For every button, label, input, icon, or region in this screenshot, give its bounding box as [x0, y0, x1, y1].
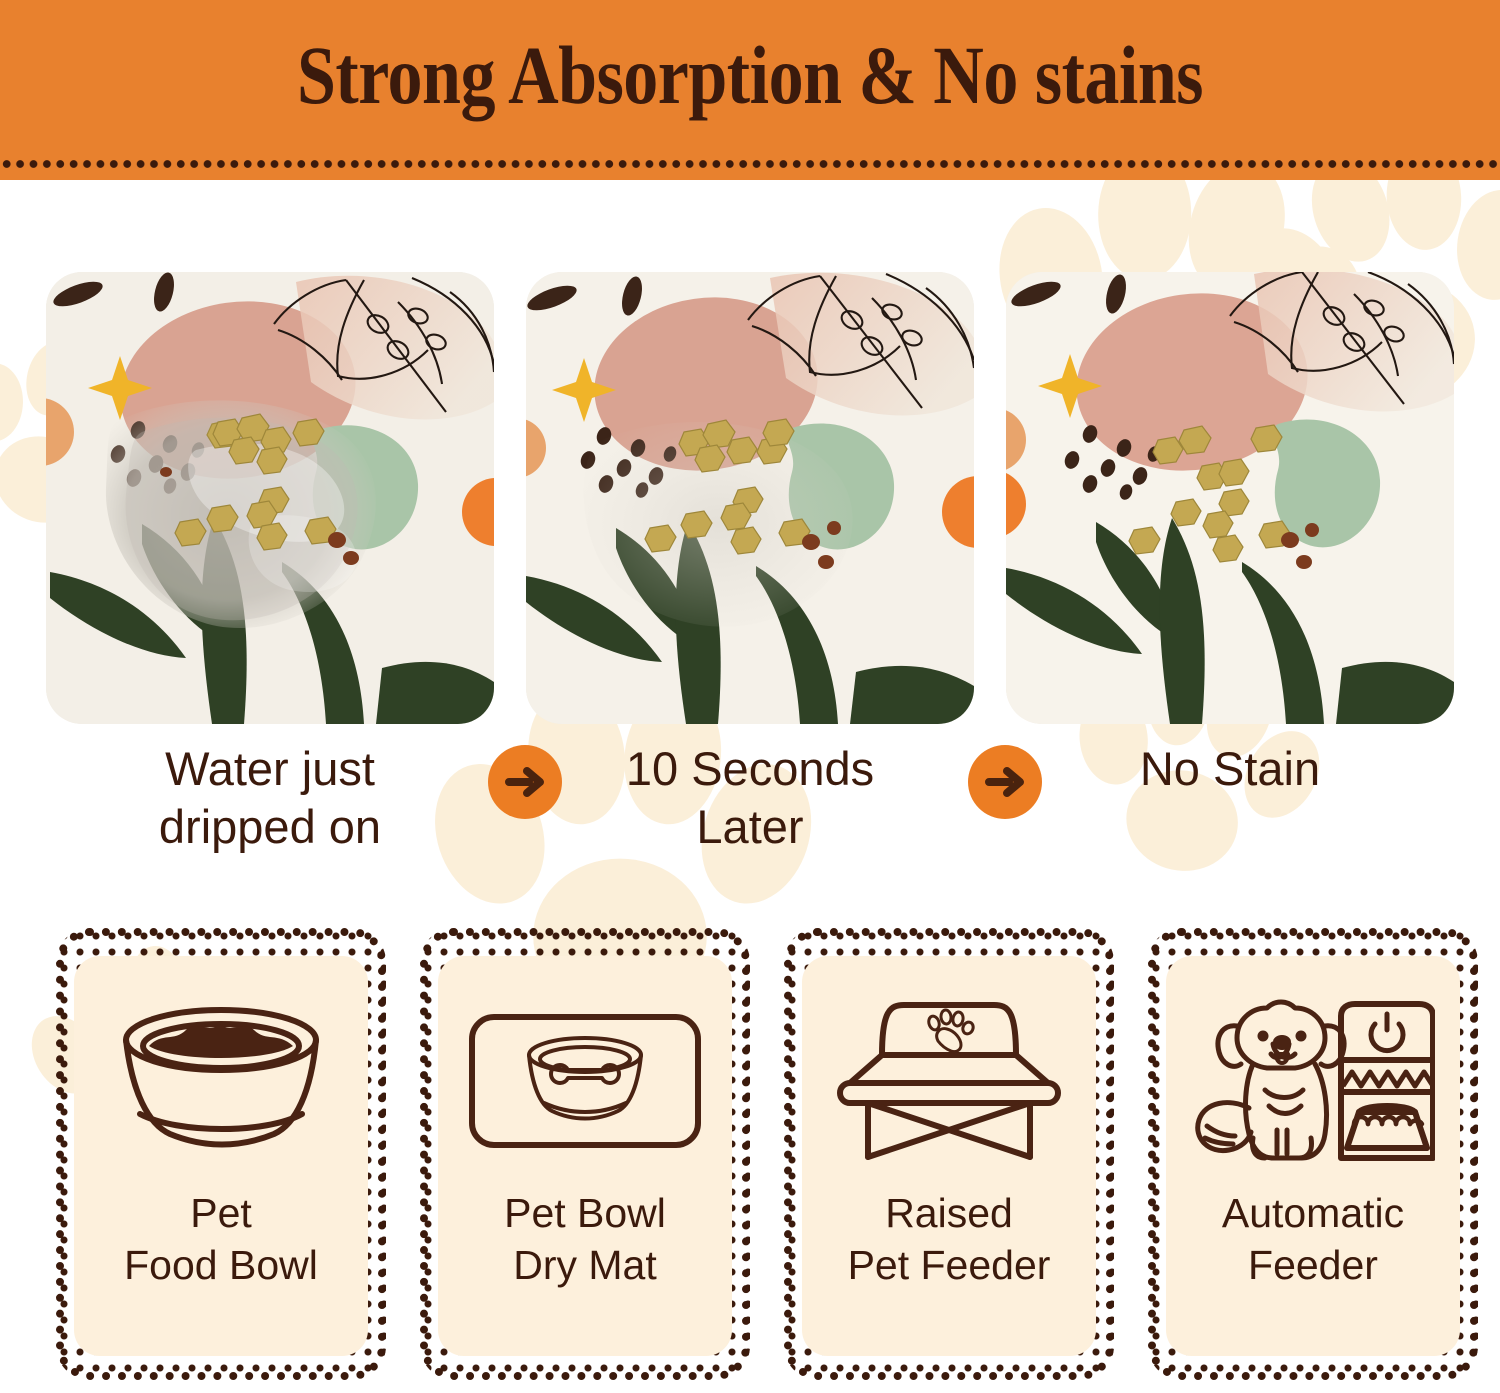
usecase-card-row: Pet Food Bowl P — [0, 928, 1500, 1384]
pet-food-bowl-icon — [108, 986, 334, 1176]
usecase-card-raised-pet-feeder[interactable]: Raised Pet Feeder — [784, 928, 1114, 1380]
usecase-card-automatic-feeder[interactable]: Automatic Feeder — [1148, 928, 1478, 1380]
demo-photo-no-stain — [1006, 272, 1454, 724]
usecase-card-pet-bowl-dry-mat[interactable]: Pet Bowl Dry Mat — [420, 928, 750, 1380]
usecase-card-inner: Automatic Feeder — [1166, 956, 1460, 1356]
page-title: Strong Absorption & No stains — [0, 30, 1500, 124]
demo-caption-ten-seconds-later: 10 Seconds Later — [510, 740, 990, 857]
raised-pet-feeder-icon — [834, 986, 1064, 1176]
usecase-card-inner: Pet Bowl Dry Mat — [438, 956, 732, 1356]
demo-photo-ten-seconds-later — [526, 272, 974, 724]
usecase-label: Pet Food Bowl — [124, 1188, 318, 1291]
usecase-card-inner: Pet Food Bowl — [74, 956, 368, 1356]
demo-caption-water-dripped: Water just dripped on — [30, 740, 510, 857]
demo-photo-water-dripped — [46, 272, 494, 724]
demo-caption-no-stain: No Stain — [990, 740, 1470, 798]
usecase-label: Automatic Feeder — [1222, 1188, 1404, 1291]
usecase-label: Pet Bowl Dry Mat — [504, 1188, 666, 1291]
usecase-label: Raised Pet Feeder — [848, 1188, 1051, 1291]
automatic-feeder-icon — [1191, 986, 1435, 1176]
pet-bowl-dry-mat-icon — [468, 986, 702, 1176]
header-dotted-divider — [0, 156, 1500, 172]
absorption-demo-row — [0, 272, 1500, 724]
header-banner: Strong Absorption & No stains — [0, 0, 1500, 180]
usecase-card-inner: Raised Pet Feeder — [802, 956, 1096, 1356]
usecase-card-pet-food-bowl[interactable]: Pet Food Bowl — [56, 928, 386, 1380]
